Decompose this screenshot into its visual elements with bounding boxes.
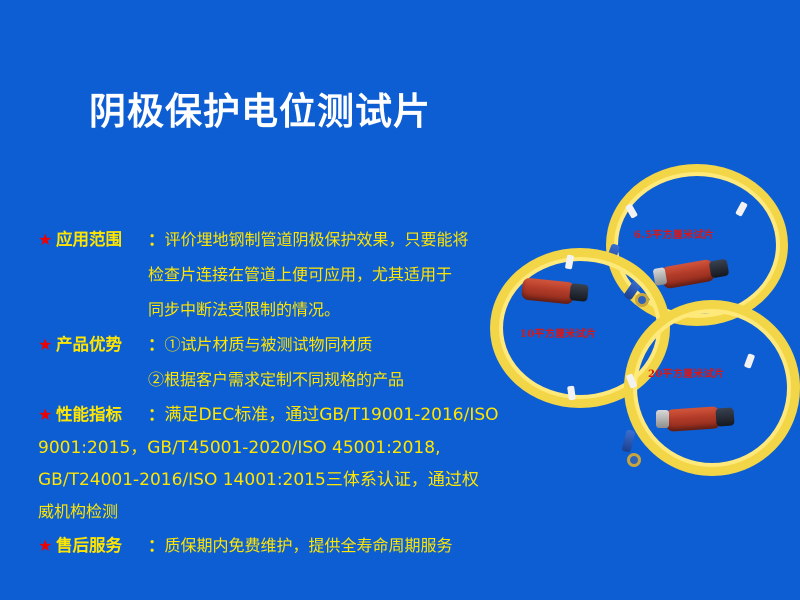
cable-connector — [665, 406, 720, 432]
photo-label-20: 20平方厘米试片 — [648, 365, 724, 380]
product-photo: 6.5平方厘米试片 10平方厘米试片 20平方厘米试片 — [488, 158, 800, 490]
bullet-text-line: ②根据客户需求定制不同规格的产品 — [148, 370, 404, 389]
star-bullet-icon: ★ — [38, 222, 56, 257]
bullet-text-line: 质保期内免费维护，提供全寿命周期服务 — [165, 536, 453, 555]
bullet-label-performance-specs: 性能指标 — [56, 397, 148, 432]
bullet-text-line: 评价埋地钢制管道阴极保护效果，只要能将 — [165, 230, 469, 249]
bullet-text-line: 威机构检测 — [38, 502, 118, 521]
photo-label-10: 10平方厘米试片 — [520, 325, 596, 340]
bullet-text-line: 同步中断法受限制的情况。 — [148, 300, 340, 319]
star-bullet-icon: ★ — [38, 528, 56, 563]
connector-tip — [569, 283, 589, 302]
star-bullet-icon: ★ — [38, 327, 56, 362]
bullet-item-product-advantages: ★产品优势：①试片材质与被测试物同材质 ②根据客户需求定制不同规格的产品 — [38, 327, 518, 397]
cable-coil-bottom-highlight — [633, 309, 791, 467]
bullet-text-line: ①试片材质与被测试物同材质 — [165, 335, 373, 354]
bullet-text-line: 满足DEC标准，通过GB/T19001-2016/ISO — [165, 405, 499, 425]
bullet-text-line: 9001:2015，GB/T45001-2020/ISO 45001:2018, — [38, 438, 440, 458]
bullet-label-after-sales-service: 售后服务 — [56, 528, 148, 563]
connector-collar — [656, 410, 669, 428]
bullet-colon: ： — [148, 536, 165, 555]
bullet-item-after-sales-service: ★售后服务：质保期内免费维护，提供全寿命周期服务 — [38, 528, 518, 563]
connector-tip — [715, 407, 734, 426]
bullet-colon: ： — [148, 405, 165, 424]
bullet-label-product-advantages: 产品优势 — [56, 327, 148, 362]
connector-tip — [709, 259, 730, 279]
bullet-text-line: 检查片连接在管道上便可应用，尤其适用于 — [148, 265, 452, 284]
photo-label-6-5: 6.5平方厘米试片 — [634, 226, 714, 241]
bullet-colon: ： — [148, 230, 165, 249]
page-title: 阴极保护电位测试片 — [0, 92, 520, 133]
bullet-item-application-scope: ★应用范围：评价埋地钢制管道阴极保护效果，只要能将 检查片连接在管道上便可应用，… — [38, 222, 518, 327]
star-bullet-icon: ★ — [38, 397, 56, 432]
slide-canvas: 阴极保护电位测试片 ★应用范围：评价埋地钢制管道阴极保护效果，只要能将 检查片连… — [0, 0, 800, 600]
bullet-item-performance-specs: ★性能指标：满足DEC标准，通过GB/T19001-2016/ISO 9001:… — [38, 397, 518, 528]
cable-blue-sleeve — [621, 429, 635, 453]
cable-ring-terminal — [627, 453, 641, 467]
bullet-list: ★应用范围：评价埋地钢制管道阴极保护效果，只要能将 检查片连接在管道上便可应用，… — [38, 222, 518, 563]
bullet-label-application-scope: 应用范围 — [56, 222, 148, 257]
bullet-colon: ： — [148, 335, 165, 354]
bullet-text-line: GB/T24001-2016/ISO 14001:2015三体系认证，通过权 — [38, 470, 479, 490]
